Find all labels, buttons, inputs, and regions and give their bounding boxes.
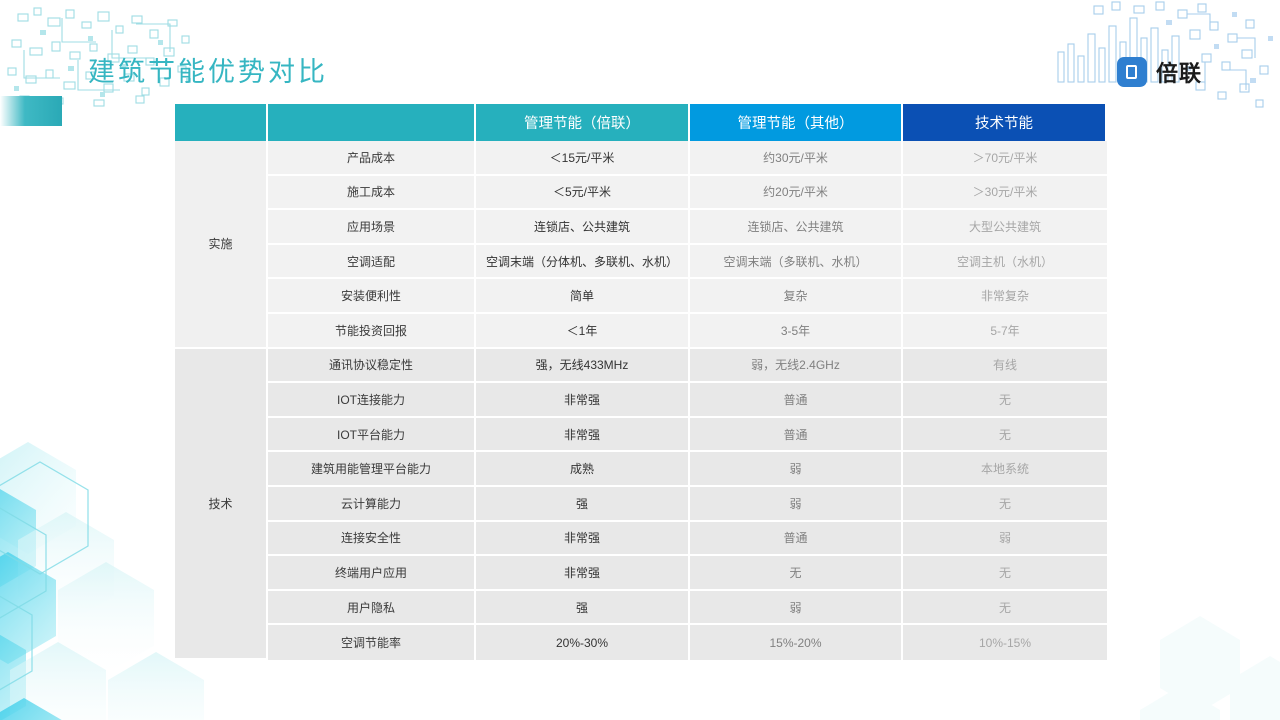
- row-group-label: 技术: [175, 349, 268, 660]
- cell-technical: 弱: [903, 522, 1107, 557]
- row-item-label: 空调适配: [268, 245, 476, 280]
- table-row: 节能投资回报＜1年3-5年5-7年: [175, 314, 1107, 349]
- cell-technical: 10%-15%: [903, 625, 1107, 660]
- brand-name: 倍联: [1156, 56, 1202, 88]
- row-item-label: 连接安全性: [268, 522, 476, 557]
- cell-others: 弱: [690, 487, 903, 522]
- cell-beilian: 成熟: [476, 452, 690, 487]
- cell-technical: ＞70元/平米: [903, 141, 1107, 176]
- table-row: 施工成本＜5元/平米约20元/平米＞30元/平米: [175, 176, 1107, 211]
- cell-others: 弱，无线2.4GHz: [690, 349, 903, 384]
- cell-others: 连锁店、公共建筑: [690, 210, 903, 245]
- brand-logo: 倍联: [1117, 56, 1202, 88]
- cell-technical: ＞30元/平米: [903, 176, 1107, 211]
- cell-beilian: 强: [476, 487, 690, 522]
- table-body: 实施产品成本＜15元/平米约30元/平米＞70元/平米施工成本＜5元/平米约20…: [175, 141, 1107, 660]
- row-item-label: IOT连接能力: [268, 383, 476, 418]
- page-title: 建筑节能优势对比: [88, 50, 328, 89]
- table-row: 用户隐私强弱无: [175, 591, 1107, 626]
- cell-beilian: ＜5元/平米: [476, 176, 690, 211]
- cell-beilian: 强，无线433MHz: [476, 349, 690, 384]
- cell-beilian: 强: [476, 591, 690, 626]
- row-item-label: 云计算能力: [268, 487, 476, 522]
- cell-technical: 非常复杂: [903, 279, 1107, 314]
- cell-others: 无: [690, 556, 903, 591]
- header-group-blank: [175, 104, 268, 141]
- cell-others: 弱: [690, 591, 903, 626]
- cell-others: 弱: [690, 452, 903, 487]
- cell-technical: 大型公共建筑: [903, 210, 1107, 245]
- cell-beilian: ＜15元/平米: [476, 141, 690, 176]
- cell-technical: 无: [903, 556, 1107, 591]
- cell-others: 普通: [690, 383, 903, 418]
- title-accent-bar: [0, 96, 62, 126]
- table-row: 空调节能率20%-30%15%-20%10%-15%: [175, 625, 1107, 660]
- slide-canvas: 建筑节能优势对比 倍联 管理节能（倍联） 管理节能（其他） 技术节能 实施产品成…: [0, 0, 1280, 720]
- cell-others: 复杂: [690, 279, 903, 314]
- table-row: 连接安全性非常强普通弱: [175, 522, 1107, 557]
- row-item-label: IOT平台能力: [268, 418, 476, 453]
- row-item-label: 应用场景: [268, 210, 476, 245]
- row-item-label: 施工成本: [268, 176, 476, 211]
- row-item-label: 用户隐私: [268, 591, 476, 626]
- cell-beilian: 简单: [476, 279, 690, 314]
- cell-others: 约20元/平米: [690, 176, 903, 211]
- table-header-row: 管理节能（倍联） 管理节能（其他） 技术节能: [175, 104, 1107, 141]
- row-item-label: 建筑用能管理平台能力: [268, 452, 476, 487]
- row-item-label: 通讯协议稳定性: [268, 349, 476, 384]
- cell-beilian: 非常强: [476, 522, 690, 557]
- row-item-label: 终端用户应用: [268, 556, 476, 591]
- header-col-technical: 技术节能: [903, 104, 1107, 141]
- row-item-label: 产品成本: [268, 141, 476, 176]
- cell-technical: 有线: [903, 349, 1107, 384]
- cell-others: 15%-20%: [690, 625, 903, 660]
- row-item-label: 空调节能率: [268, 625, 476, 660]
- table-row: 终端用户应用非常强无无: [175, 556, 1107, 591]
- cell-others: 空调末端（多联机、水机）: [690, 245, 903, 280]
- cell-technical: 本地系统: [903, 452, 1107, 487]
- table-row: 建筑用能管理平台能力成熟弱本地系统: [175, 452, 1107, 487]
- cell-technical: 无: [903, 383, 1107, 418]
- row-group-label: 实施: [175, 141, 268, 349]
- cell-others: 普通: [690, 522, 903, 557]
- cell-technical: 5-7年: [903, 314, 1107, 349]
- table-row: IOT平台能力非常强普通无: [175, 418, 1107, 453]
- table-row: 实施产品成本＜15元/平米约30元/平米＞70元/平米: [175, 141, 1107, 176]
- cell-technical: 空调主机（水机）: [903, 245, 1107, 280]
- cell-technical: 无: [903, 487, 1107, 522]
- cell-technical: 无: [903, 591, 1107, 626]
- header-col-beilian: 管理节能（倍联）: [476, 104, 690, 141]
- cell-others: 普通: [690, 418, 903, 453]
- cell-beilian: 非常强: [476, 418, 690, 453]
- table-row: 云计算能力强弱无: [175, 487, 1107, 522]
- cell-others: 3-5年: [690, 314, 903, 349]
- cell-beilian: 空调末端（分体机、多联机、水机）: [476, 245, 690, 280]
- cell-beilian: 20%-30%: [476, 625, 690, 660]
- header-col-others: 管理节能（其他）: [690, 104, 903, 141]
- comparison-table: 管理节能（倍联） 管理节能（其他） 技术节能 实施产品成本＜15元/平米约30元…: [175, 104, 1107, 660]
- logo-mark-icon: [1117, 57, 1147, 87]
- table-row: 安装便利性简单复杂非常复杂: [175, 279, 1107, 314]
- cell-beilian: 连锁店、公共建筑: [476, 210, 690, 245]
- table-row: 应用场景连锁店、公共建筑连锁店、公共建筑大型公共建筑: [175, 210, 1107, 245]
- row-item-label: 节能投资回报: [268, 314, 476, 349]
- comparison-table-container: 管理节能（倍联） 管理节能（其他） 技术节能 实施产品成本＜15元/平米约30元…: [175, 104, 1107, 660]
- cell-beilian: 非常强: [476, 556, 690, 591]
- header-item-blank: [268, 104, 476, 141]
- table-header: 管理节能（倍联） 管理节能（其他） 技术节能: [175, 104, 1107, 141]
- row-item-label: 安装便利性: [268, 279, 476, 314]
- cell-technical: 无: [903, 418, 1107, 453]
- table-row: 技术通讯协议稳定性强，无线433MHz弱，无线2.4GHz有线: [175, 349, 1107, 384]
- cell-beilian: ＜1年: [476, 314, 690, 349]
- table-row: 空调适配空调末端（分体机、多联机、水机）空调末端（多联机、水机）空调主机（水机）: [175, 245, 1107, 280]
- hexagon-decoration-bottom-right: [1120, 600, 1280, 720]
- table-row: IOT连接能力非常强普通无: [175, 383, 1107, 418]
- cell-beilian: 非常强: [476, 383, 690, 418]
- cell-others: 约30元/平米: [690, 141, 903, 176]
